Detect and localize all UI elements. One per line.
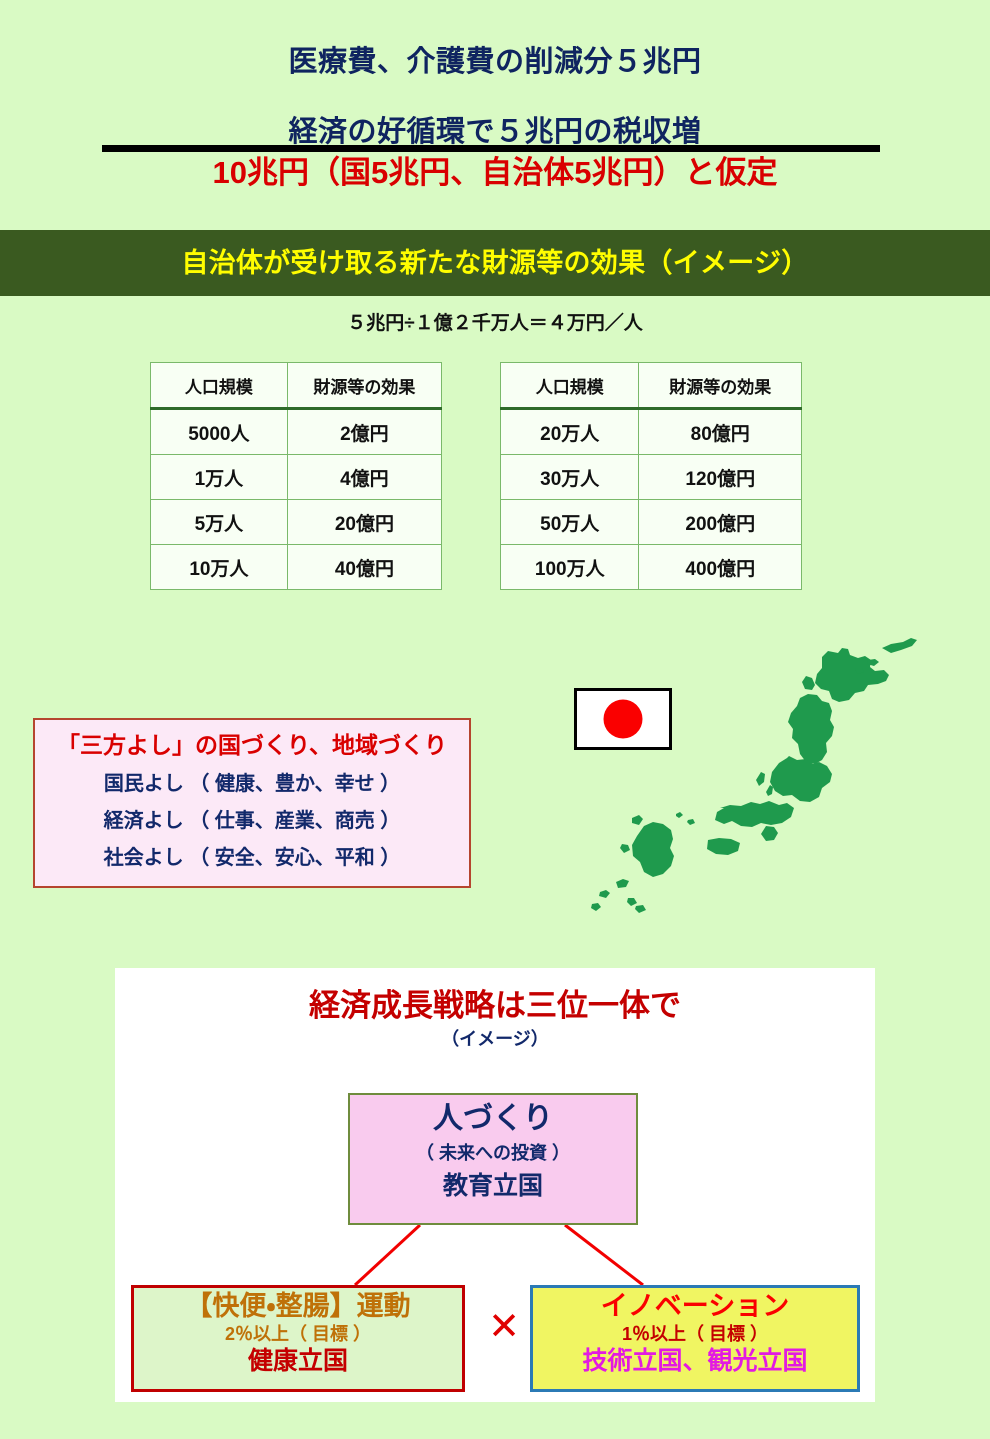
header-divider-rule: [102, 145, 880, 152]
table-row: 30万人 120億円: [501, 455, 802, 500]
cell-effect: 2億円: [287, 409, 441, 455]
banner-title: 自治体が受け取る新たな財源等の効果（イメージ）: [181, 250, 808, 277]
node-innovation-target: 1％以上（ 目標 ）: [533, 1325, 857, 1343]
strategy-diagram-panel: 経済成長戦略は三位一体で （イメージ） 人づくり （ 未来への投資 ） 教育立国…: [115, 968, 875, 1402]
cell-effect: 80億円: [639, 409, 802, 455]
table-row: 1万人 4億円: [151, 455, 442, 500]
node-health-goal: 健康立国: [134, 1349, 462, 1374]
cell-population: 50万人: [501, 500, 639, 545]
cell-effect: 4億円: [287, 455, 441, 500]
table-header-row: 人口規模 財源等の効果: [151, 363, 442, 409]
cell-effect: 400億円: [639, 545, 802, 590]
strategy-subtitle: （イメージ）: [115, 1030, 875, 1048]
sanpo-yoshi-line-citizens: 国民よし （ 健康、豊か、幸せ ）: [35, 774, 469, 794]
sanpo-yoshi-line-economy: 経済よし （ 仕事、産業、商売 ）: [35, 811, 469, 831]
cell-population: 5000人: [151, 409, 288, 455]
column-header-population: 人口規模: [151, 363, 288, 409]
cell-population: 1万人: [151, 455, 288, 500]
cell-population: 20万人: [501, 409, 639, 455]
cell-population: 100万人: [501, 545, 639, 590]
flag-red-disc: [604, 700, 643, 739]
population-effect-table-right: 人口規模 財源等の効果 20万人 80億円 30万人 120億円 50万人 20…: [500, 362, 802, 590]
node-people-title: 人づくり: [350, 1104, 636, 1134]
cell-effect: 40億円: [287, 545, 441, 590]
node-people-development: 人づくり （ 未来への投資 ） 教育立国: [348, 1093, 638, 1225]
connector-people-to-health: [355, 1225, 420, 1285]
multiply-icon: ✕: [478, 1308, 530, 1346]
strategy-title: 経済成長戦略は三位一体で: [115, 990, 875, 1021]
table-row: 20万人 80億円: [501, 409, 802, 455]
header-assumption-text: 10兆円（国5兆円、自治体5兆円）と仮定: [0, 157, 990, 188]
cell-population: 30万人: [501, 455, 639, 500]
node-people-goal: 教育立国: [350, 1174, 636, 1199]
cell-effect: 120億円: [639, 455, 802, 500]
table-row: 50万人 200億円: [501, 500, 802, 545]
node-innovation-goal: 技術立国、観光立国: [533, 1349, 857, 1374]
column-header-effect: 財源等の効果: [287, 363, 441, 409]
node-innovation: イノベーション 1％以上（ 目標 ） 技術立国、観光立国: [530, 1285, 860, 1392]
table-header-row: 人口規模 財源等の効果: [501, 363, 802, 409]
table-row: 5000人 2億円: [151, 409, 442, 455]
table-row: 5万人 20億円: [151, 500, 442, 545]
cell-population: 5万人: [151, 500, 288, 545]
cell-effect: 200億円: [639, 500, 802, 545]
japan-map-illustration: [560, 630, 940, 930]
node-health-target: 2％以上（ 目標 ）: [134, 1325, 462, 1343]
column-header-population: 人口規模: [501, 363, 639, 409]
population-effect-table-left: 人口規模 財源等の効果 5000人 2億円 1万人 4億円 5万人 20億円 1…: [150, 362, 442, 590]
table-row: 100万人 400億円: [501, 545, 802, 590]
header-line-savings: 医療費、介護費の削減分５兆円: [0, 48, 990, 77]
node-people-subtitle: （ 未来への投資 ）: [350, 1144, 636, 1162]
column-header-effect: 財源等の効果: [639, 363, 802, 409]
table-row: 10万人 40億円: [151, 545, 442, 590]
header-line-tax-revenue: 経済の好循環で５兆円の税収増: [0, 118, 990, 147]
section-banner: 自治体が受け取る新たな財源等の効果（イメージ）: [0, 230, 990, 296]
sanpo-yoshi-heading: 「三方よし」の国づくり、地域づくり: [35, 734, 469, 757]
per-capita-formula: ５兆円÷１億２千万人＝４万円／人: [0, 314, 990, 333]
cell-effect: 20億円: [287, 500, 441, 545]
node-innovation-title: イノベーション: [533, 1293, 857, 1320]
connector-people-to-innovation: [565, 1225, 643, 1285]
header-block: 医療費、介護費の削減分５兆円 経済の好循環で５兆円の税収増: [0, 0, 990, 147]
cell-population: 10万人: [151, 545, 288, 590]
node-health-movement: 【快便・整腸】運動 2％以上（ 目標 ） 健康立国: [131, 1285, 465, 1392]
sanpo-yoshi-line-society: 社会よし （ 安全、安心、平和 ）: [35, 848, 469, 868]
japan-flag-icon: [574, 688, 672, 750]
node-health-title: 【快便・整腸】運動: [134, 1293, 462, 1320]
sanpo-yoshi-box: 「三方よし」の国づくり、地域づくり 国民よし （ 健康、豊か、幸せ ） 経済よし…: [33, 718, 471, 888]
